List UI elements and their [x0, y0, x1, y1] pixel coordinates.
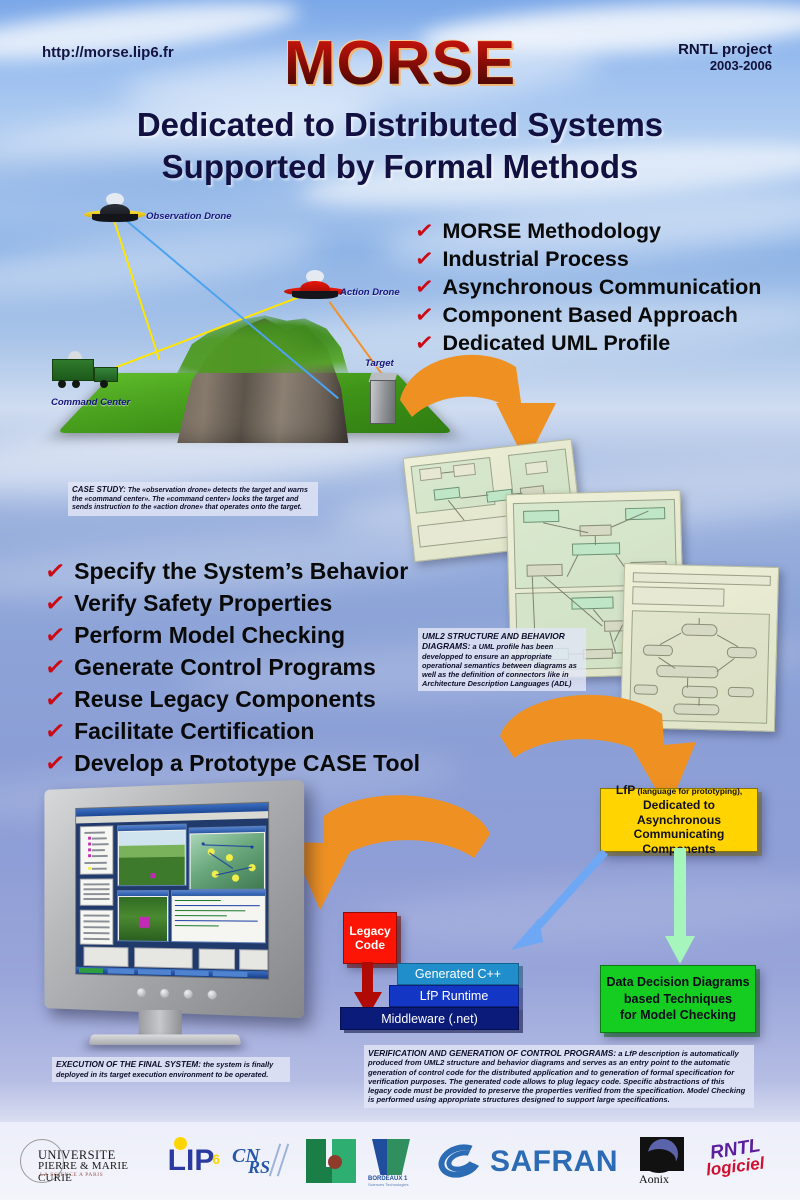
action-drone-model — [284, 277, 346, 307]
check-icon: ✓ — [43, 687, 66, 714]
lip6-dot-icon — [174, 1137, 187, 1150]
logo-rntl-logiciel: RNTL logiciel — [704, 1135, 784, 1187]
monitor-power-button[interactable] — [208, 990, 217, 999]
goal-label: Develop a Prototype CASE Tool — [74, 750, 420, 777]
goal-label: Specify the System’s Behavior — [74, 558, 408, 585]
label-command-center: Command Center — [51, 397, 130, 408]
logo-cnrs: CN RS — [226, 1135, 298, 1187]
partner-logo-bar: UNIVERSITE PIERRE & MARIE CURIE LA SCIEN… — [0, 1122, 800, 1200]
list-item: ✓MORSE Methodology — [415, 219, 761, 244]
waypoint-marker — [226, 854, 233, 861]
goal-label: Verify Safety Properties — [74, 590, 332, 617]
scene-3d-window[interactable] — [117, 890, 169, 942]
monitor-screen — [75, 802, 269, 980]
ddd-line-3: for Model Checking — [620, 1007, 736, 1024]
control-button-group[interactable] — [199, 949, 235, 970]
label-action-drone: Action Drone — [340, 287, 400, 298]
goal-label: Facilitate Certification — [74, 718, 314, 745]
goals-checklist: ✓Specify the System’s Behavior ✓Verify S… — [45, 558, 420, 782]
upmc-line-3: LA SCIENCE A PARIS — [40, 1172, 103, 1178]
ddd-line-1: Data Decision Diagrams — [606, 974, 749, 991]
legacy-line-1: Legacy — [349, 924, 390, 938]
lfp-acronym: LfP — [616, 783, 635, 797]
caption-body: a LfP description is automatically produ… — [368, 1049, 745, 1104]
observation-drone-model — [84, 200, 146, 230]
caption-verification: VERIFICATION AND GENERATION OF CONTROL P… — [364, 1045, 754, 1108]
subtitle-line-1: Dedicated to Distributed Systems — [0, 106, 800, 144]
case-study-scene: Observation Drone Action Drone Command C… — [52, 195, 452, 465]
check-icon: ✓ — [414, 303, 435, 327]
list-item: ✓Industrial Process — [415, 247, 761, 272]
feature-label: MORSE Methodology — [442, 219, 661, 244]
list-item: ✓Dedicated UML Profile — [415, 331, 761, 356]
taskbar-item[interactable] — [213, 971, 248, 976]
window-title-bar — [172, 891, 265, 896]
labri-dot-icon — [328, 1155, 342, 1169]
check-icon: ✓ — [414, 331, 435, 355]
check-icon: ✓ — [43, 655, 66, 682]
taskbar-item[interactable] — [175, 970, 209, 975]
data-decision-diagrams-box: Data Decision Diagrams based Techniques … — [600, 965, 756, 1033]
safran-wordmark: SAFRAN — [490, 1145, 618, 1179]
tactical-map-window[interactable] — [189, 826, 266, 890]
variables-panel[interactable] — [80, 910, 113, 945]
window-title-bar — [118, 891, 168, 896]
terrain-3d-view-window[interactable] — [117, 824, 187, 887]
truck-wheel — [58, 380, 66, 388]
poster-canvas: http://morse.lip6.fr RNTL project 2003-2… — [0, 0, 800, 1200]
list-item: ✓Facilitate Certification — [45, 718, 420, 745]
terrain-mountain-vegetation — [170, 313, 352, 373]
features-checklist: ✓MORSE Methodology ✓Industrial Process ✓… — [415, 219, 761, 359]
comm-link-yellow — [112, 217, 160, 360]
logo-lip6: LIP 6 — [160, 1135, 222, 1187]
feature-label: Asynchronous Communication — [442, 275, 761, 300]
logo-safran: SAFRAN — [436, 1135, 626, 1187]
check-icon: ✓ — [43, 719, 66, 746]
list-item: ✓Component Based Approach — [415, 303, 761, 328]
monitor-button[interactable] — [160, 989, 169, 998]
aonix-crescent-cut-icon — [642, 1149, 676, 1173]
target-model — [370, 380, 396, 424]
arrow-lfp-to-ddd — [663, 848, 697, 968]
goal-label: Perform Model Checking — [74, 622, 345, 649]
feature-label: Component Based Approach — [442, 303, 737, 328]
target-marker — [151, 873, 156, 878]
monitor-bezel — [44, 780, 304, 1019]
legacy-code-box: Legacy Code — [343, 912, 397, 964]
bordeaux-line-2: Sciences Technologies — [368, 1182, 409, 1187]
waypoint-marker — [232, 874, 239, 881]
check-icon: ✓ — [43, 591, 66, 618]
model-tree-panel[interactable] — [80, 825, 113, 874]
legacy-line-2: Code — [355, 938, 385, 952]
arrow-lfp-to-generated-cpp — [505, 846, 613, 956]
list-item: ✓Asynchronous Communication — [415, 275, 761, 300]
monitor-button[interactable] — [137, 988, 146, 997]
antenna-dish-icon — [68, 351, 82, 359]
goal-label: Generate Control Programs — [74, 654, 376, 681]
caption-uml2: UML2 STRUCTURE AND BEHAVIOR DIAGRAMS: a … — [418, 628, 586, 691]
property-table-panel[interactable] — [80, 878, 113, 905]
caption-heading: CASE STUDY: — [72, 485, 126, 494]
caption-execution: EXECUTION OF THE FINAL SYSTEM: the syste… — [52, 1057, 290, 1082]
truck-wheel — [100, 380, 108, 388]
lfp-language-box: LfP (language for prototyping), Dedicate… — [600, 788, 758, 852]
goal-label: Reuse Legacy Components — [74, 686, 376, 713]
log-output — [173, 897, 264, 942]
monitor-button[interactable] — [184, 989, 193, 998]
logo-aonix: Aonix — [630, 1135, 700, 1187]
trace-log-window[interactable] — [171, 890, 266, 944]
command-center-truck — [52, 357, 126, 393]
feature-label: Industrial Process — [442, 247, 628, 272]
logo-labri — [302, 1135, 362, 1187]
execution-monitor — [28, 785, 328, 1070]
feature-label: Dedicated UML Profile — [442, 331, 670, 356]
lfp-runtime-box: LfP Runtime — [389, 985, 519, 1007]
list-item: ✓Reuse Legacy Components — [45, 686, 420, 713]
drone-underside — [92, 214, 138, 222]
lip6-superscript: 6 — [212, 1151, 220, 1167]
taskbar-item[interactable] — [108, 969, 135, 974]
caption-case-study: CASE STUDY: The «observation drone» dete… — [68, 482, 318, 516]
label-observation-drone: Observation Drone — [146, 211, 232, 222]
lfp-expansion: (language for prototyping), — [635, 787, 742, 796]
check-icon: ✓ — [414, 275, 435, 299]
check-icon: ✓ — [414, 247, 435, 271]
subtitle-line-2: Supported by Formal Methods — [0, 148, 800, 186]
check-icon: ✓ — [414, 219, 435, 243]
list-item: ✓Generate Control Programs — [45, 654, 420, 681]
check-icon: ✓ — [43, 559, 66, 586]
drone-underside — [292, 291, 338, 299]
logo-universite-bordeaux-1: BORDEAUX 1 Sciences Technologies — [366, 1135, 432, 1187]
label-target: Target — [365, 358, 394, 369]
bordeaux-mark-icon — [372, 1139, 410, 1175]
start-button[interactable] — [79, 968, 103, 973]
list-item: ✓Specify the System’s Behavior — [45, 558, 420, 585]
truck-cargo — [52, 359, 94, 381]
monitor-neck — [139, 1010, 182, 1036]
page-title: MORSE — [0, 28, 800, 99]
list-item: ✓Perform Model Checking — [45, 622, 420, 649]
control-button-group[interactable] — [239, 949, 268, 970]
caption-heading: EXECUTION OF THE FINAL SYSTEM: — [56, 1060, 201, 1069]
target-cube — [139, 917, 150, 928]
cnrs-part-2: RS — [248, 1157, 270, 1178]
logo-universite-pierre-et-marie-curie: UNIVERSITE PIERRE & MARIE CURIE LA SCIEN… — [16, 1135, 156, 1187]
middleware-box: Middleware (.net) — [340, 1007, 519, 1030]
check-icon: ✓ — [43, 623, 66, 650]
caption-heading: VERIFICATION AND GENERATION OF CONTROL P… — [368, 1048, 616, 1058]
lip6-text: LIP — [168, 1144, 215, 1178]
control-button-group[interactable] — [134, 947, 192, 968]
aonix-wordmark: Aonix — [639, 1172, 669, 1187]
monitor-base — [88, 1034, 241, 1044]
check-icon: ✓ — [43, 751, 66, 778]
control-button-group[interactable] — [84, 947, 129, 967]
lfp-title-line: LfP (language for prototyping), — [616, 783, 742, 798]
truck-wheel — [72, 380, 80, 388]
uml-activity-diagram-sheet — [620, 563, 779, 732]
lfp-line-2: Dedicated to Asynchronous — [605, 798, 753, 827]
generated-cpp-box: Generated C++ — [397, 963, 519, 985]
list-item: ✓Develop a Prototype CASE Tool — [45, 750, 420, 777]
ddd-line-2: based Techniques — [624, 991, 732, 1008]
taskbar-item[interactable] — [138, 969, 171, 974]
list-item: ✓Verify Safety Properties — [45, 590, 420, 617]
